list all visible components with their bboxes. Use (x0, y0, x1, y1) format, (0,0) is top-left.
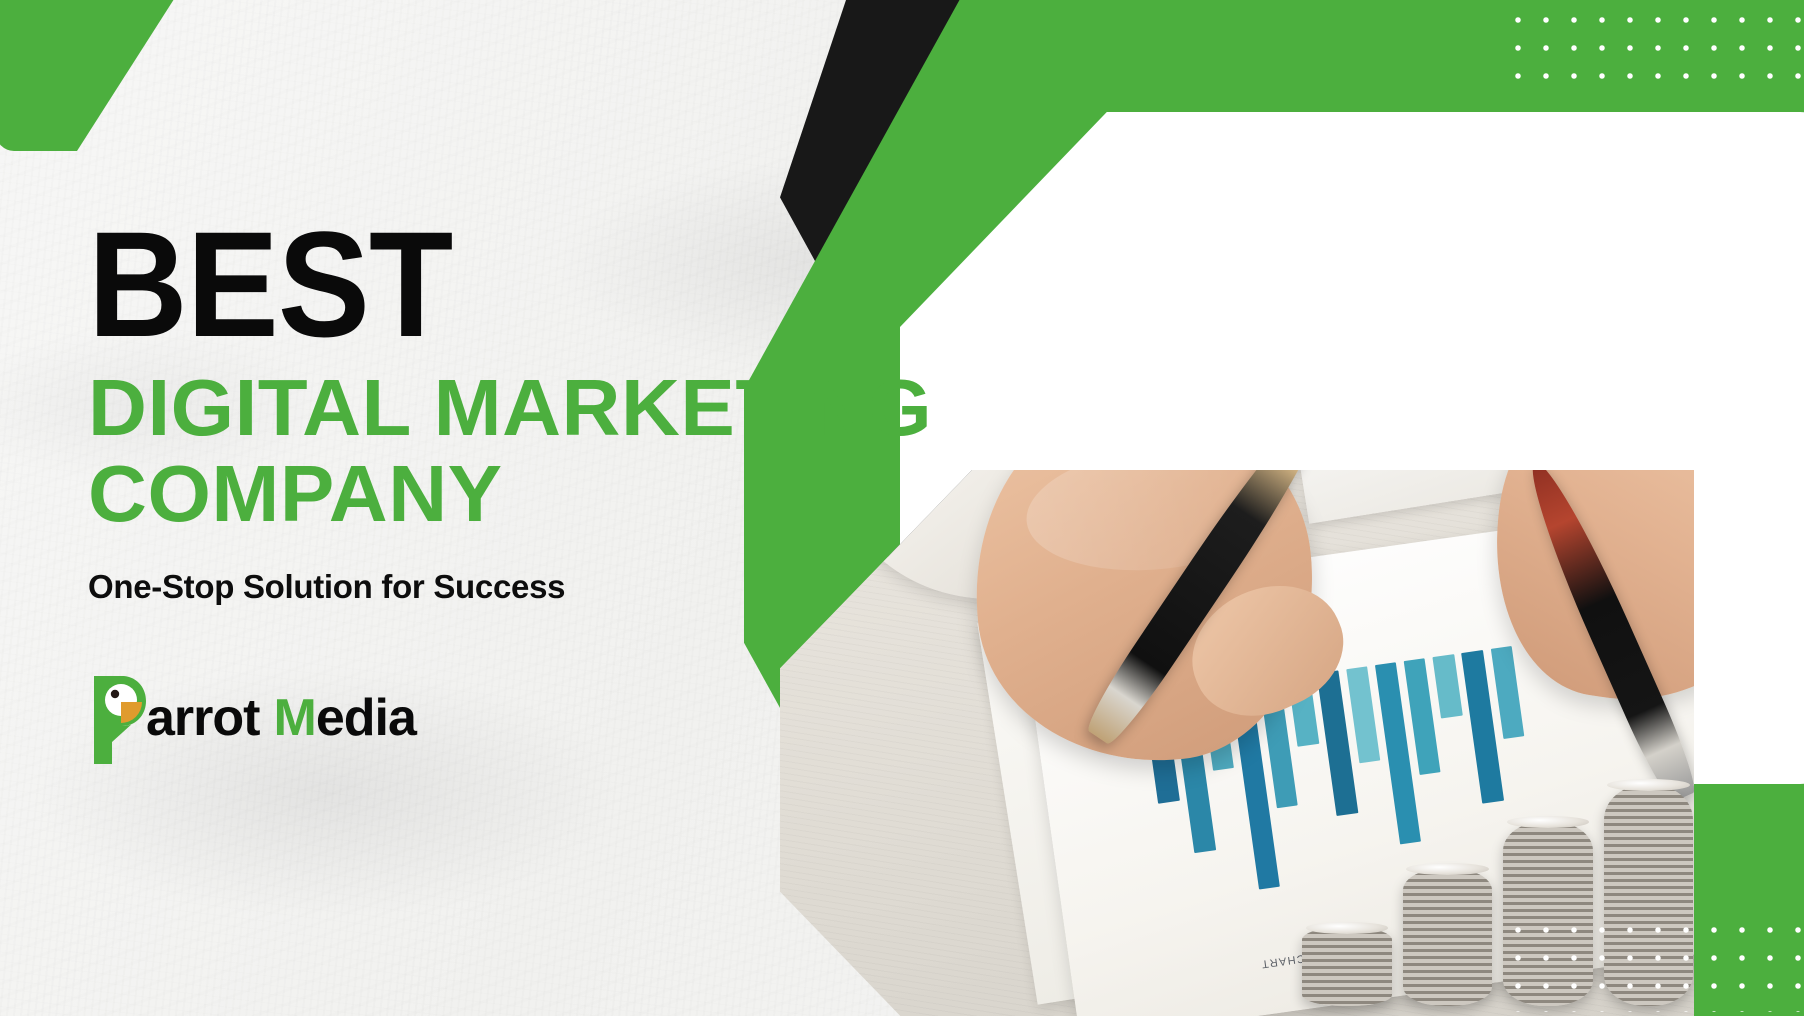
text-content-block: BEST DIGITAL MARKETING COMPANY One-Stop … (88, 0, 788, 1016)
photo-coin-stack (1403, 868, 1493, 1005)
wordmark-arrot: arrot (146, 689, 259, 747)
brand-wordmark: arrotMedia (146, 692, 416, 748)
brand-logo[interactable]: arrotMedia (88, 672, 416, 768)
hero-image-composition: FINANCIAL CHART (780, 0, 1804, 1016)
photo-coin-stack (1302, 927, 1392, 1006)
headline-line-3: COMPANY (88, 462, 503, 526)
dot-grid-bottom-right (1504, 916, 1804, 1012)
parrot-logo-icon (88, 672, 150, 768)
subtitle: One-Stop Solution for Success (88, 568, 565, 606)
wordmark-m: M (273, 689, 315, 747)
headline-line-2: DIGITAL MARKETING (88, 376, 932, 440)
headline-line-1: BEST (88, 226, 452, 343)
photo-chart-bar (1491, 646, 1525, 739)
wordmark-edia: edia (316, 689, 416, 747)
dot-grid-top-right (1504, 6, 1804, 98)
marketing-banner: FINANCIAL CHART BEST DIGITAL MARKETING C… (0, 0, 1804, 1016)
photo-chart-bar (1433, 654, 1463, 718)
